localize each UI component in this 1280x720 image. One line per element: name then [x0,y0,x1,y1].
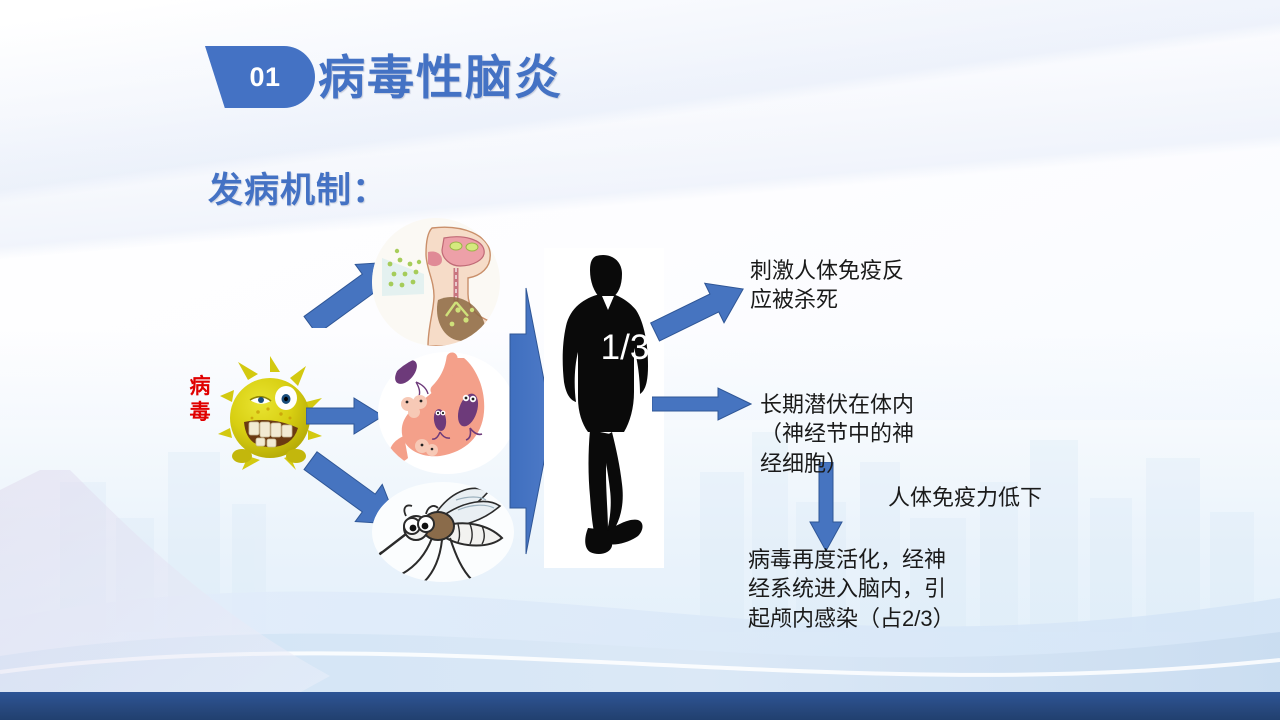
respiratory-tract-icon [372,218,500,346]
respiratory-route-image [372,218,500,346]
arrow-to-immune-outcome [650,278,750,342]
mosquito-icon [372,482,514,582]
virus-source-label: 病毒 [186,374,214,427]
immune-clearance-text: 刺激人体免疫反 应被杀死 [750,256,1000,315]
person-silhouette-icon [544,248,664,568]
arrow-to-digestive-route [306,396,384,436]
section-number-label: 01 [239,62,280,93]
vector-route-image [372,482,514,582]
reactivation-text: 病毒再度活化，经神 经系统进入脑内，引 起颅内感染（占2/3） [748,545,1048,633]
slide-canvas: 01 病毒性脑炎 发病机制： 病毒 [0,0,1280,720]
arrow-to-latency-outcome [652,386,752,422]
page-title: 病毒性脑炎 [318,50,563,106]
section-subtitle: 发病机制： [208,162,388,213]
stomach-icon [378,352,516,474]
low-immunity-trigger-text: 人体免疫力低下 [888,483,1148,512]
bottom-accent-bar [0,692,1280,720]
digestive-route-image [378,352,516,474]
latent-infection-text: 长期潜伏在体内 （神经节中的神 经细胞） [760,390,1010,478]
section-number-badge: 01 [205,46,315,108]
host-person-panel [544,248,664,568]
